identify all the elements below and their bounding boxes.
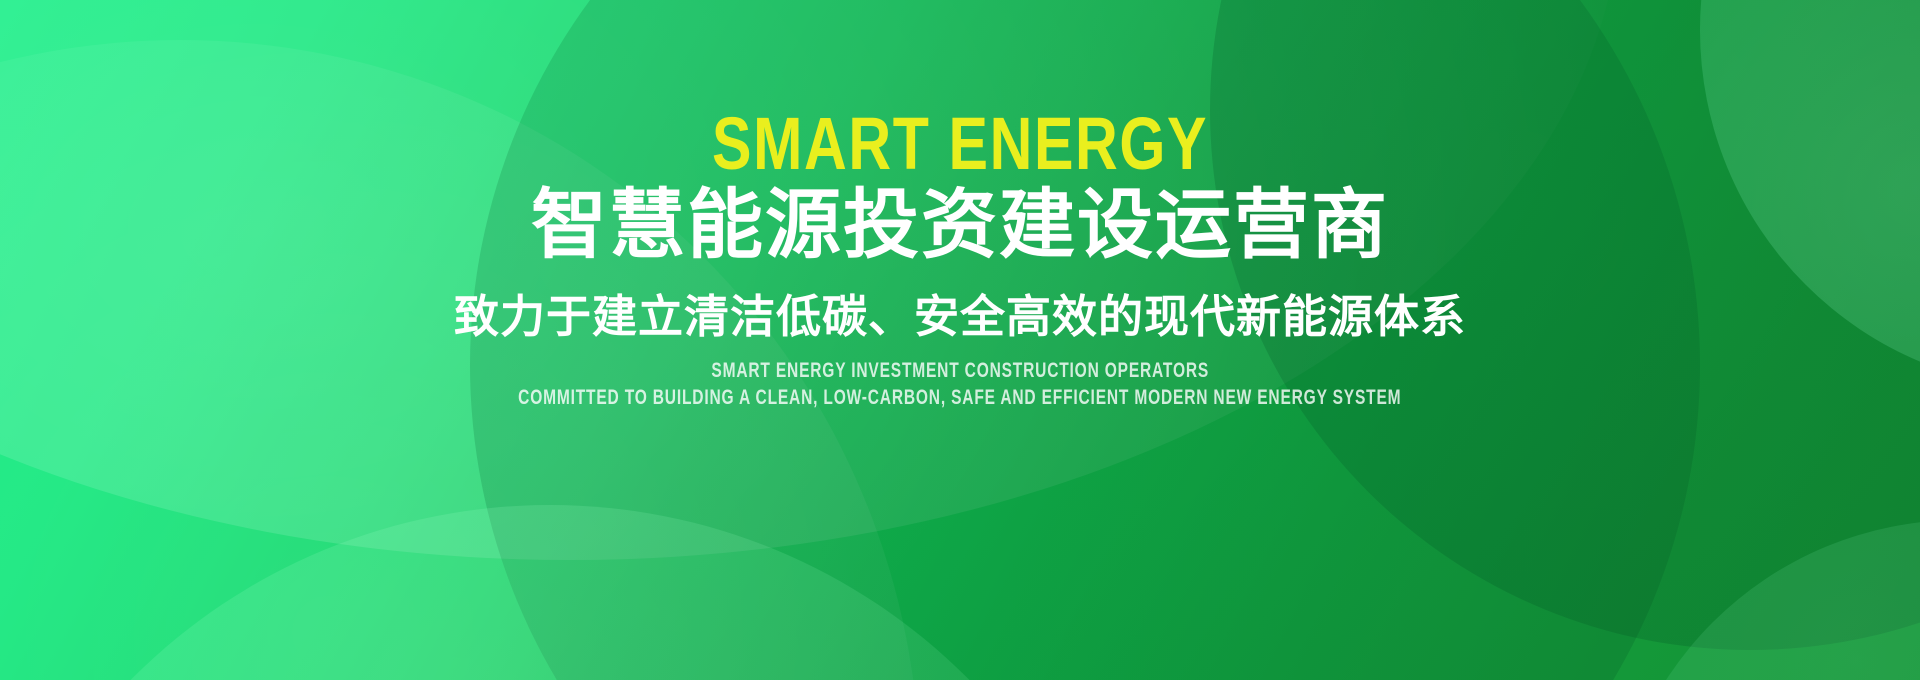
hero-english-subtitle-group: SMART ENERGY INVESTMENT CONSTRUCTION OPE… <box>363 360 1557 409</box>
hero-subheadline-chinese: 致力于建立清洁低碳、安全高效的现代新能源体系 <box>454 292 1466 342</box>
hero-english-line-2: COMMITTED TO BUILDING A CLEAN, LOW-CARBO… <box>518 387 1401 409</box>
hero-english-line-1: SMART ENERGY INVESTMENT CONSTRUCTION OPE… <box>711 360 1209 382</box>
hero-banner: SMART ENERGY 智慧能源投资建设运营商 致力于建立清洁低碳、安全高效的… <box>0 0 1920 680</box>
hero-headline-chinese: 智慧能源投资建设运营商 <box>531 185 1389 264</box>
hero-eyebrow-smart-energy: SMART ENERGY <box>712 108 1208 179</box>
hero-content: SMART ENERGY 智慧能源投资建设运营商 致力于建立清洁低碳、安全高效的… <box>0 0 1920 680</box>
